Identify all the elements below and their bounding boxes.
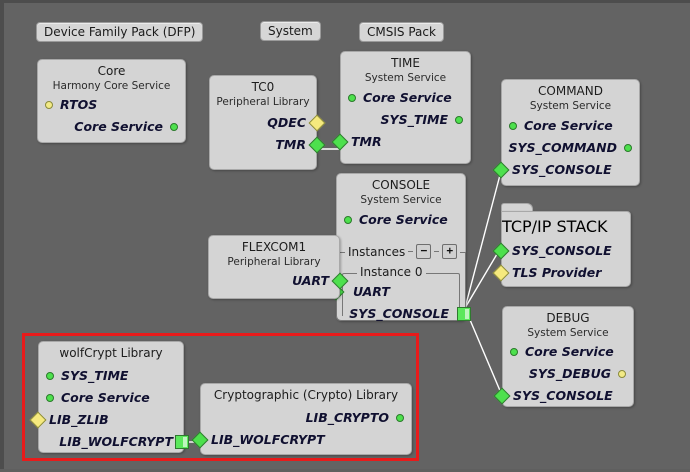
port-dot-yellow-icon <box>618 370 626 378</box>
port-wolfcrypt-lib-zlib[interactable]: LIB_ZLIB <box>39 409 183 431</box>
block-wolfcrypt-library[interactable]: wolfCrypt Library SYS_TIME Core Service … <box>38 341 184 453</box>
add-instance-button[interactable]: + <box>442 244 457 259</box>
port-dot-green-icon <box>348 94 356 102</box>
port-console-sys-console[interactable]: SYS_CONSOLE <box>343 303 459 325</box>
instances-fieldset: Instances − + Instance 0 UART SYS_CONSOL… <box>336 252 466 321</box>
block-tc0[interactable]: TC0 Peripheral Library QDEC TMR <box>209 75 317 170</box>
port-tcpip-sys-console[interactable]: SYS_CONSOLE <box>502 240 630 262</box>
port-console-core-service-label: Core Service <box>359 212 448 227</box>
tab-device-family-pack[interactable]: Device Family Pack (DFP) <box>36 22 203 42</box>
port-command-sys-console-label: SYS_CONSOLE <box>512 162 612 177</box>
port-wolfcrypt-lib-wolfcrypt[interactable]: LIB_WOLFCRYPT <box>39 431 183 453</box>
port-diamond-yellow-icon <box>493 265 510 282</box>
block-crypto-library[interactable]: Cryptographic (Crypto) Library LIB_CRYPT… <box>200 383 412 455</box>
port-square-green-icon <box>175 435 189 449</box>
port-console-uart-label: UART <box>353 284 390 299</box>
block-time[interactable]: TIME System Service Core Service SYS_TIM… <box>340 51 471 164</box>
block-flexcom1-title: FLEXCOM1 <box>209 240 339 254</box>
block-core[interactable]: Core Harmony Core Service RTOS Core Serv… <box>37 59 186 143</box>
instance-0-legend: Instance 0 <box>357 265 426 279</box>
port-tcpip-sys-console-label: SYS_CONSOLE <box>512 243 612 258</box>
block-command-subtitle: System Service <box>502 100 639 112</box>
port-flexcom1-uart[interactable]: UART <box>209 270 339 292</box>
block-command-title: COMMAND <box>502 84 639 98</box>
block-command[interactable]: COMMAND System Service Core Service SYS_… <box>501 79 640 186</box>
port-tc0-qdec-label: QDEC <box>267 115 306 130</box>
port-dot-green-icon <box>46 372 54 380</box>
block-debug-title: DEBUG <box>503 311 633 325</box>
port-diamond-green-icon <box>493 243 510 260</box>
tab-cmsis-pack[interactable]: CMSIS Pack <box>359 22 444 42</box>
block-wolfcrypt-title: wolfCrypt Library <box>39 346 183 360</box>
port-time-tmr-label: TMR <box>351 134 382 149</box>
port-crypto-lib-wolfcrypt[interactable]: LIB_WOLFCRYPT <box>201 429 411 451</box>
instances-legend-label: Instances <box>348 245 405 259</box>
port-dot-green-icon <box>509 122 517 130</box>
port-dot-green-icon <box>46 394 54 402</box>
port-dot-green-icon <box>344 216 352 224</box>
port-diamond-green-icon <box>309 137 326 154</box>
legend-rule <box>434 251 439 252</box>
port-core-core-service[interactable]: Core Service <box>38 116 185 138</box>
port-command-core-service-label: Core Service <box>524 118 613 133</box>
port-diamond-green-icon <box>494 388 511 405</box>
port-wolfcrypt-sys-time[interactable]: SYS_TIME <box>39 365 183 387</box>
block-debug-subtitle: System Service <box>503 327 633 339</box>
port-time-core-service[interactable]: Core Service <box>341 87 470 109</box>
block-tcpip-stack[interactable]: TCP/IP STACK SYS_CONSOLE TLS Provider <box>501 203 631 287</box>
port-wolfcrypt-sys-time-label: SYS_TIME <box>61 368 128 383</box>
port-command-sys-command[interactable]: SYS_COMMAND <box>502 137 639 159</box>
port-time-core-service-label: Core Service <box>363 90 452 105</box>
instances-legend: Instances − + <box>345 244 460 259</box>
port-debug-core-service-label: Core Service <box>525 344 614 359</box>
block-console[interactable]: CONSOLE System Service Core Service Inst… <box>336 173 466 321</box>
port-core-rtos[interactable]: RTOS <box>38 94 185 116</box>
port-diamond-yellow-icon <box>30 412 47 429</box>
port-tc0-qdec[interactable]: QDEC <box>210 112 316 134</box>
port-debug-sys-console-label: SYS_CONSOLE <box>513 388 613 403</box>
port-time-sys-time[interactable]: SYS_TIME <box>341 109 470 131</box>
block-core-subtitle: Harmony Core Service <box>38 80 185 92</box>
block-flexcom1[interactable]: FLEXCOM1 Peripheral Library UART <box>208 235 340 299</box>
port-wolfcrypt-core-service-label: Core Service <box>61 390 150 405</box>
block-tcpip-body[interactable]: TCP/IP STACK SYS_CONSOLE TLS Provider <box>501 211 631 287</box>
port-flexcom1-uart-label: UART <box>292 273 329 288</box>
instance-0-fieldset: Instance 0 UART SYS_CONSOLE <box>342 273 460 316</box>
block-console-title: CONSOLE <box>337 178 465 192</box>
port-diamond-green-icon <box>332 134 349 151</box>
diagram-canvas[interactable]: Device Family Pack (DFP) System CMSIS Pa… <box>0 0 690 469</box>
tab-system[interactable]: System <box>260 21 321 41</box>
port-command-sys-console[interactable]: SYS_CONSOLE <box>502 159 639 181</box>
port-time-tmr[interactable]: TMR <box>341 131 470 153</box>
block-crypto-title: Cryptographic (Crypto) Library <box>201 388 411 402</box>
port-debug-sys-debug[interactable]: SYS_DEBUG <box>503 363 633 385</box>
port-core-core-service-label: Core Service <box>74 119 163 134</box>
port-wolfcrypt-lib-wolfcrypt-label: LIB_WOLFCRYPT <box>59 434 173 449</box>
port-console-sys-console-label: SYS_CONSOLE <box>349 306 449 321</box>
port-console-core-service[interactable]: Core Service <box>337 209 465 231</box>
port-tc0-tmr-label: TMR <box>275 137 306 152</box>
port-tc0-tmr[interactable]: TMR <box>210 134 316 156</box>
port-time-sys-time-label: SYS_TIME <box>381 112 448 127</box>
legend-rule <box>408 251 413 252</box>
block-tc0-subtitle: Peripheral Library <box>210 96 316 108</box>
block-tcpip-title: TCP/IP STACK <box>502 217 630 236</box>
port-debug-sys-debug-label: SYS_DEBUG <box>529 366 611 381</box>
port-crypto-lib-crypto[interactable]: LIB_CRYPTO <box>201 407 411 429</box>
port-diamond-green-icon <box>192 432 209 449</box>
port-dot-green-icon <box>455 116 463 124</box>
block-flexcom1-subtitle: Peripheral Library <box>209 256 339 268</box>
block-time-title: TIME <box>341 56 470 70</box>
port-tcpip-tls-provider-label: TLS Provider <box>512 265 601 280</box>
port-command-sys-command-label: SYS_COMMAND <box>509 140 618 155</box>
port-debug-core-service[interactable]: Core Service <box>503 341 633 363</box>
block-tc0-title: TC0 <box>210 80 316 94</box>
port-wolfcrypt-core-service[interactable]: Core Service <box>39 387 183 409</box>
port-core-rtos-label: RTOS <box>60 97 97 112</box>
port-tcpip-tls-provider[interactable]: TLS Provider <box>502 262 630 284</box>
block-debug[interactable]: DEBUG System Service Core Service SYS_DE… <box>502 306 634 407</box>
block-time-subtitle: System Service <box>341 72 470 84</box>
port-wolfcrypt-lib-zlib-label: LIB_ZLIB <box>49 412 109 427</box>
port-command-core-service[interactable]: Core Service <box>502 115 639 137</box>
block-core-title: Core <box>38 64 185 78</box>
block-console-subtitle: System Service <box>337 194 465 206</box>
port-dot-green-icon <box>396 414 404 422</box>
remove-instance-button[interactable]: − <box>416 244 431 259</box>
port-dot-green-icon <box>510 348 518 356</box>
port-diamond-green-icon <box>493 162 510 179</box>
port-square-green-icon <box>457 307 471 321</box>
port-crypto-lib-crypto-label: LIB_CRYPTO <box>306 410 389 425</box>
port-console-uart[interactable]: UART <box>343 281 459 303</box>
port-crypto-lib-wolfcrypt-label: LIB_WOLFCRYPT <box>211 432 325 447</box>
port-dot-green-icon <box>170 123 178 131</box>
port-debug-sys-console[interactable]: SYS_CONSOLE <box>503 385 633 407</box>
port-dot-green-icon <box>624 144 632 152</box>
port-dot-yellow-icon <box>45 101 53 109</box>
port-diamond-yellow-icon <box>309 115 326 132</box>
